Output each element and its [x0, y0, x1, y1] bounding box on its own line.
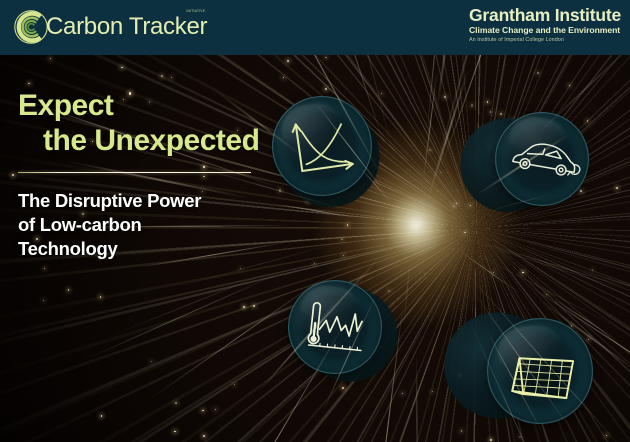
title-divider: [18, 172, 251, 173]
solar-panel-icon: [482, 313, 598, 429]
subhead-line-3: Technology: [18, 237, 268, 261]
carbon-tracker-wordmark: Carbon Tracker: [46, 10, 207, 44]
icon-disc-temperature: [283, 275, 386, 378]
page-subtitle: The Disruptive Power of Low-carbon Techn…: [18, 189, 268, 261]
electric-car-icon: [488, 105, 597, 214]
carbon-tracker-logo: Carbon Tracker INITIATIVE: [14, 10, 207, 44]
thermometer-graph-icon: [283, 275, 386, 378]
grantham-subtitle: Climate Change and the Environment: [469, 25, 621, 36]
header-bar: Carbon Tracker INITIATIVE Grantham Insti…: [0, 0, 630, 55]
grantham-tagline: An Institute of Imperial College London: [469, 36, 621, 45]
icon-disc-electric-car: [488, 105, 597, 214]
icon-disc-solar-panel: [482, 313, 598, 429]
supply-demand-curve-icon: [266, 90, 379, 203]
headline-line-1: Expect: [18, 89, 113, 122]
grantham-institute-logo: Grantham Institute Climate Change and th…: [469, 6, 621, 45]
headline-line-2: the Unexpected: [18, 123, 268, 158]
page-title: Expect the Unexpected: [18, 88, 268, 158]
carbon-tracker-concentric-c-mark: [14, 10, 48, 44]
grantham-title: Grantham Institute: [469, 6, 621, 25]
subhead-line-2: of Low-carbon: [18, 213, 268, 237]
subhead-line-1: The Disruptive Power: [18, 189, 268, 213]
carbon-tracker-superscript: INITIATIVE: [186, 9, 205, 13]
hero-text-block: Expect the Unexpected The Disruptive Pow…: [18, 88, 268, 261]
report-cover: Carbon Tracker INITIATIVE Grantham Insti…: [0, 0, 630, 442]
icon-disc-supply-demand: [266, 90, 379, 203]
